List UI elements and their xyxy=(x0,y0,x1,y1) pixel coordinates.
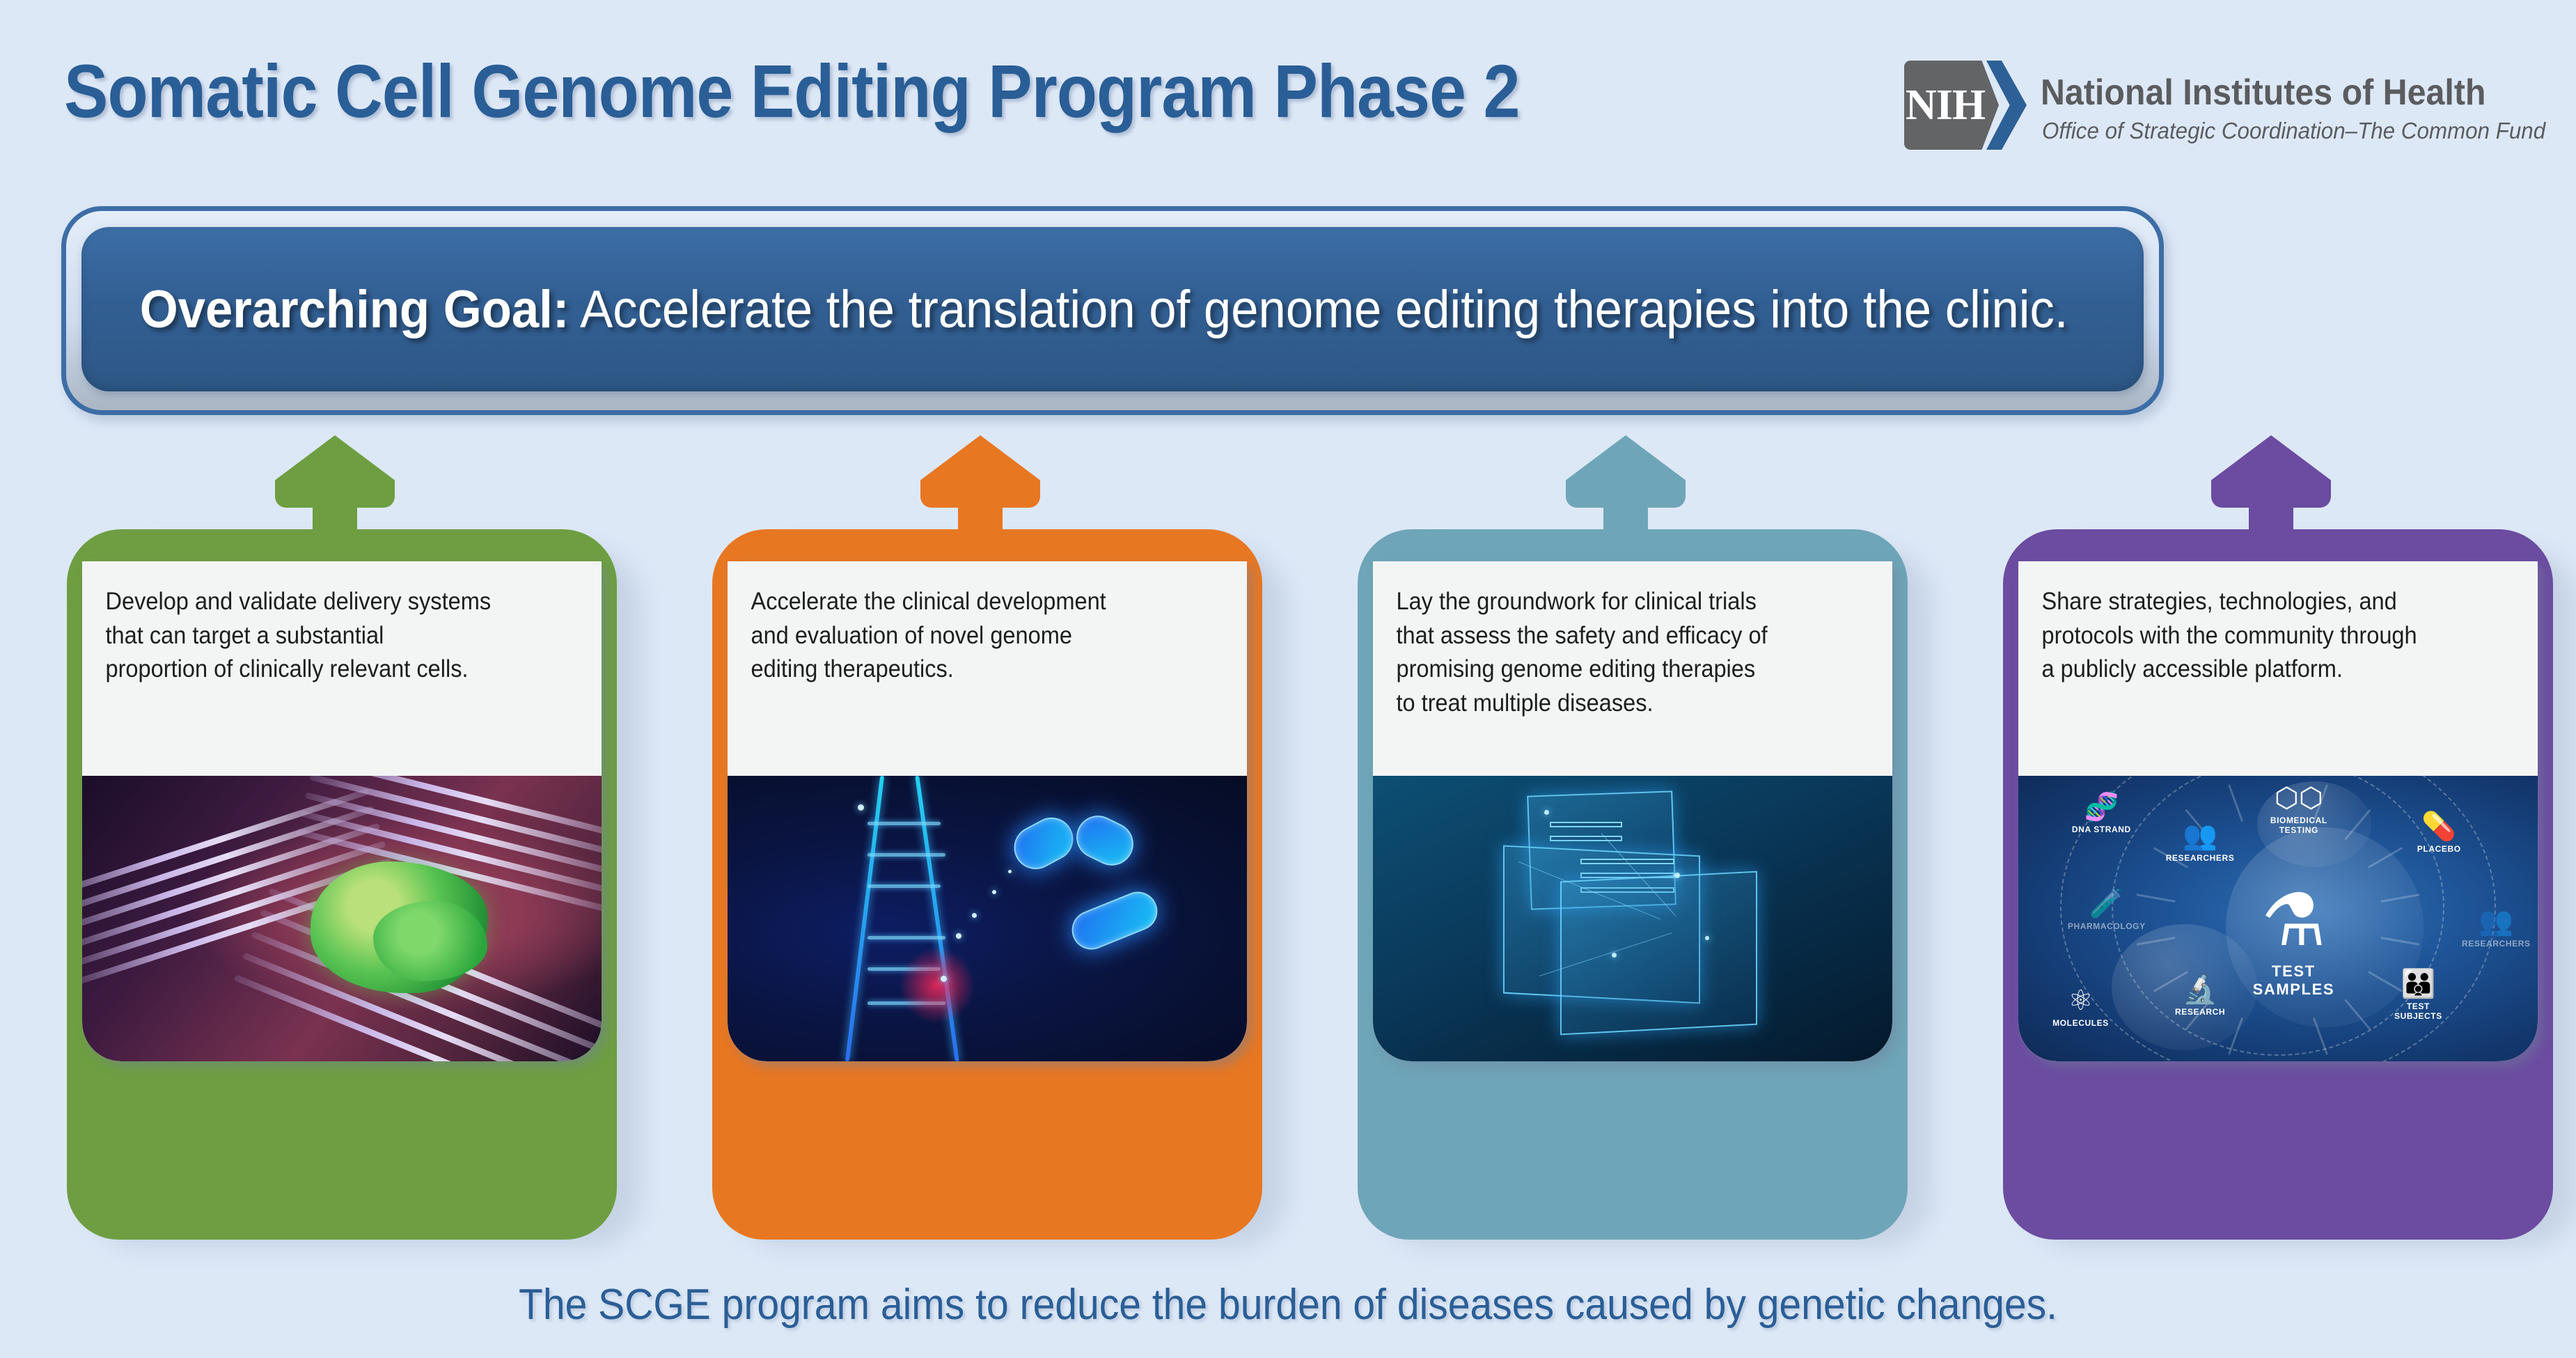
pills-icon: 💊 xyxy=(2382,813,2496,841)
nih-logo-office: Office of Strategic Coordination–The Com… xyxy=(2042,118,2545,144)
collage-item-research: 🔬 RESEARCH xyxy=(2143,976,2257,1017)
collage-item-placebo: 💊 PLACEBO xyxy=(2382,813,2496,854)
collage-label: RESEARCHERS xyxy=(2444,939,2538,949)
nih-logo-mark: NIH xyxy=(1904,61,2027,150)
clinical-trials-collage-photo: 🧬 DNA STRAND 👥 RESEARCHERS ⬡⬡ BIOMEDICAL… xyxy=(2018,776,2538,1061)
card-description: Develop and validate delivery systems th… xyxy=(82,561,565,687)
collage-label: RESEARCHERS xyxy=(2143,853,2257,863)
collage-item-dna-strand: 🧬 DNA STRAND xyxy=(2044,793,2158,834)
nih-logo: NIH National Institutes of Health Office… xyxy=(1904,59,2503,153)
collage-label: MOLECULES xyxy=(2029,1018,2133,1028)
collage-label: DNA STRAND xyxy=(2044,825,2158,834)
flask-test-tube-icon: ⚗ xyxy=(2226,884,2361,957)
beaker-icon: 🧪 xyxy=(2050,890,2164,918)
card-content-panel: Accelerate the clinical development and … xyxy=(728,561,1247,1061)
collage-label: PLACEBO xyxy=(2382,844,2496,854)
overarching-goal-inner-panel: Overarching Goal: Accelerate the transla… xyxy=(81,227,2144,391)
collage-item-pharmacology: 🧪 PHARMACOLOGY xyxy=(2050,890,2164,931)
card-content-panel: Share strategies, technologies, and prot… xyxy=(2018,561,2538,1061)
card-content-panel: Lay the groundwork for clinical trials t… xyxy=(1373,561,1892,1061)
microscope-icon: 🔬 xyxy=(2143,976,2257,1004)
collage-item-molecules: ⚛ MOLECULES xyxy=(2029,987,2133,1028)
people-icon: 👪 xyxy=(2361,970,2475,998)
collage-label: PHARMACOLOGY xyxy=(2050,921,2164,931)
footer-caption: The SCGE program aims to reduce the burd… xyxy=(103,1280,2473,1329)
wireframe-folder-documents-photo xyxy=(1373,776,1892,1061)
collage-item-test-subjects: 👪 TEST SUBJECTS xyxy=(2361,970,2475,1021)
overarching-goal-text: Overarching Goal: Accelerate the transla… xyxy=(81,279,2068,340)
dna-strand-icon: 🧬 xyxy=(2044,793,2158,821)
collage-item-biomedical-testing: ⬡⬡ BIOMEDICAL TESTING xyxy=(2236,784,2361,835)
overarching-goal-banner: Overarching Goal: Accelerate the transla… xyxy=(61,206,2164,415)
card-description: Accelerate the clinical development and … xyxy=(728,561,1211,687)
wireframe-dna-capsules-photo xyxy=(728,776,1247,1061)
crispr-protein-on-dna-photo xyxy=(82,776,602,1061)
molecules-icon: ⚛ xyxy=(2029,987,2133,1015)
card-content-panel: Develop and validate delivery systems th… xyxy=(82,561,602,1061)
collage-label: BIOMEDICAL TESTING xyxy=(2236,815,2361,835)
card-description: Share strategies, technologies, and prot… xyxy=(2018,561,2502,687)
page-header: Somatic Cell Genome Editing Program Phas… xyxy=(0,0,2576,188)
collage-item-researchers-2: 👥 RESEARCHERS xyxy=(2444,907,2538,949)
nih-acronym: NIH xyxy=(1904,61,1986,150)
page-title: Somatic Cell Genome Editing Program Phas… xyxy=(64,47,1520,134)
card-description: Lay the groundwork for clinical trials t… xyxy=(1373,561,1856,721)
molecule-structure-icon: ⬡⬡ xyxy=(2236,784,2361,812)
overarching-goal-label: Overarching Goal: xyxy=(140,280,570,339)
nih-logo-name: National Institutes of Health xyxy=(2041,72,2485,114)
collage-label: RESEARCH xyxy=(2143,1007,2257,1017)
collage-label: TEST SUBJECTS xyxy=(2361,1001,2475,1021)
overarching-goal-body: Accelerate the translation of genome edi… xyxy=(569,280,2068,339)
researchers-icon: 👥 xyxy=(2444,907,2538,935)
